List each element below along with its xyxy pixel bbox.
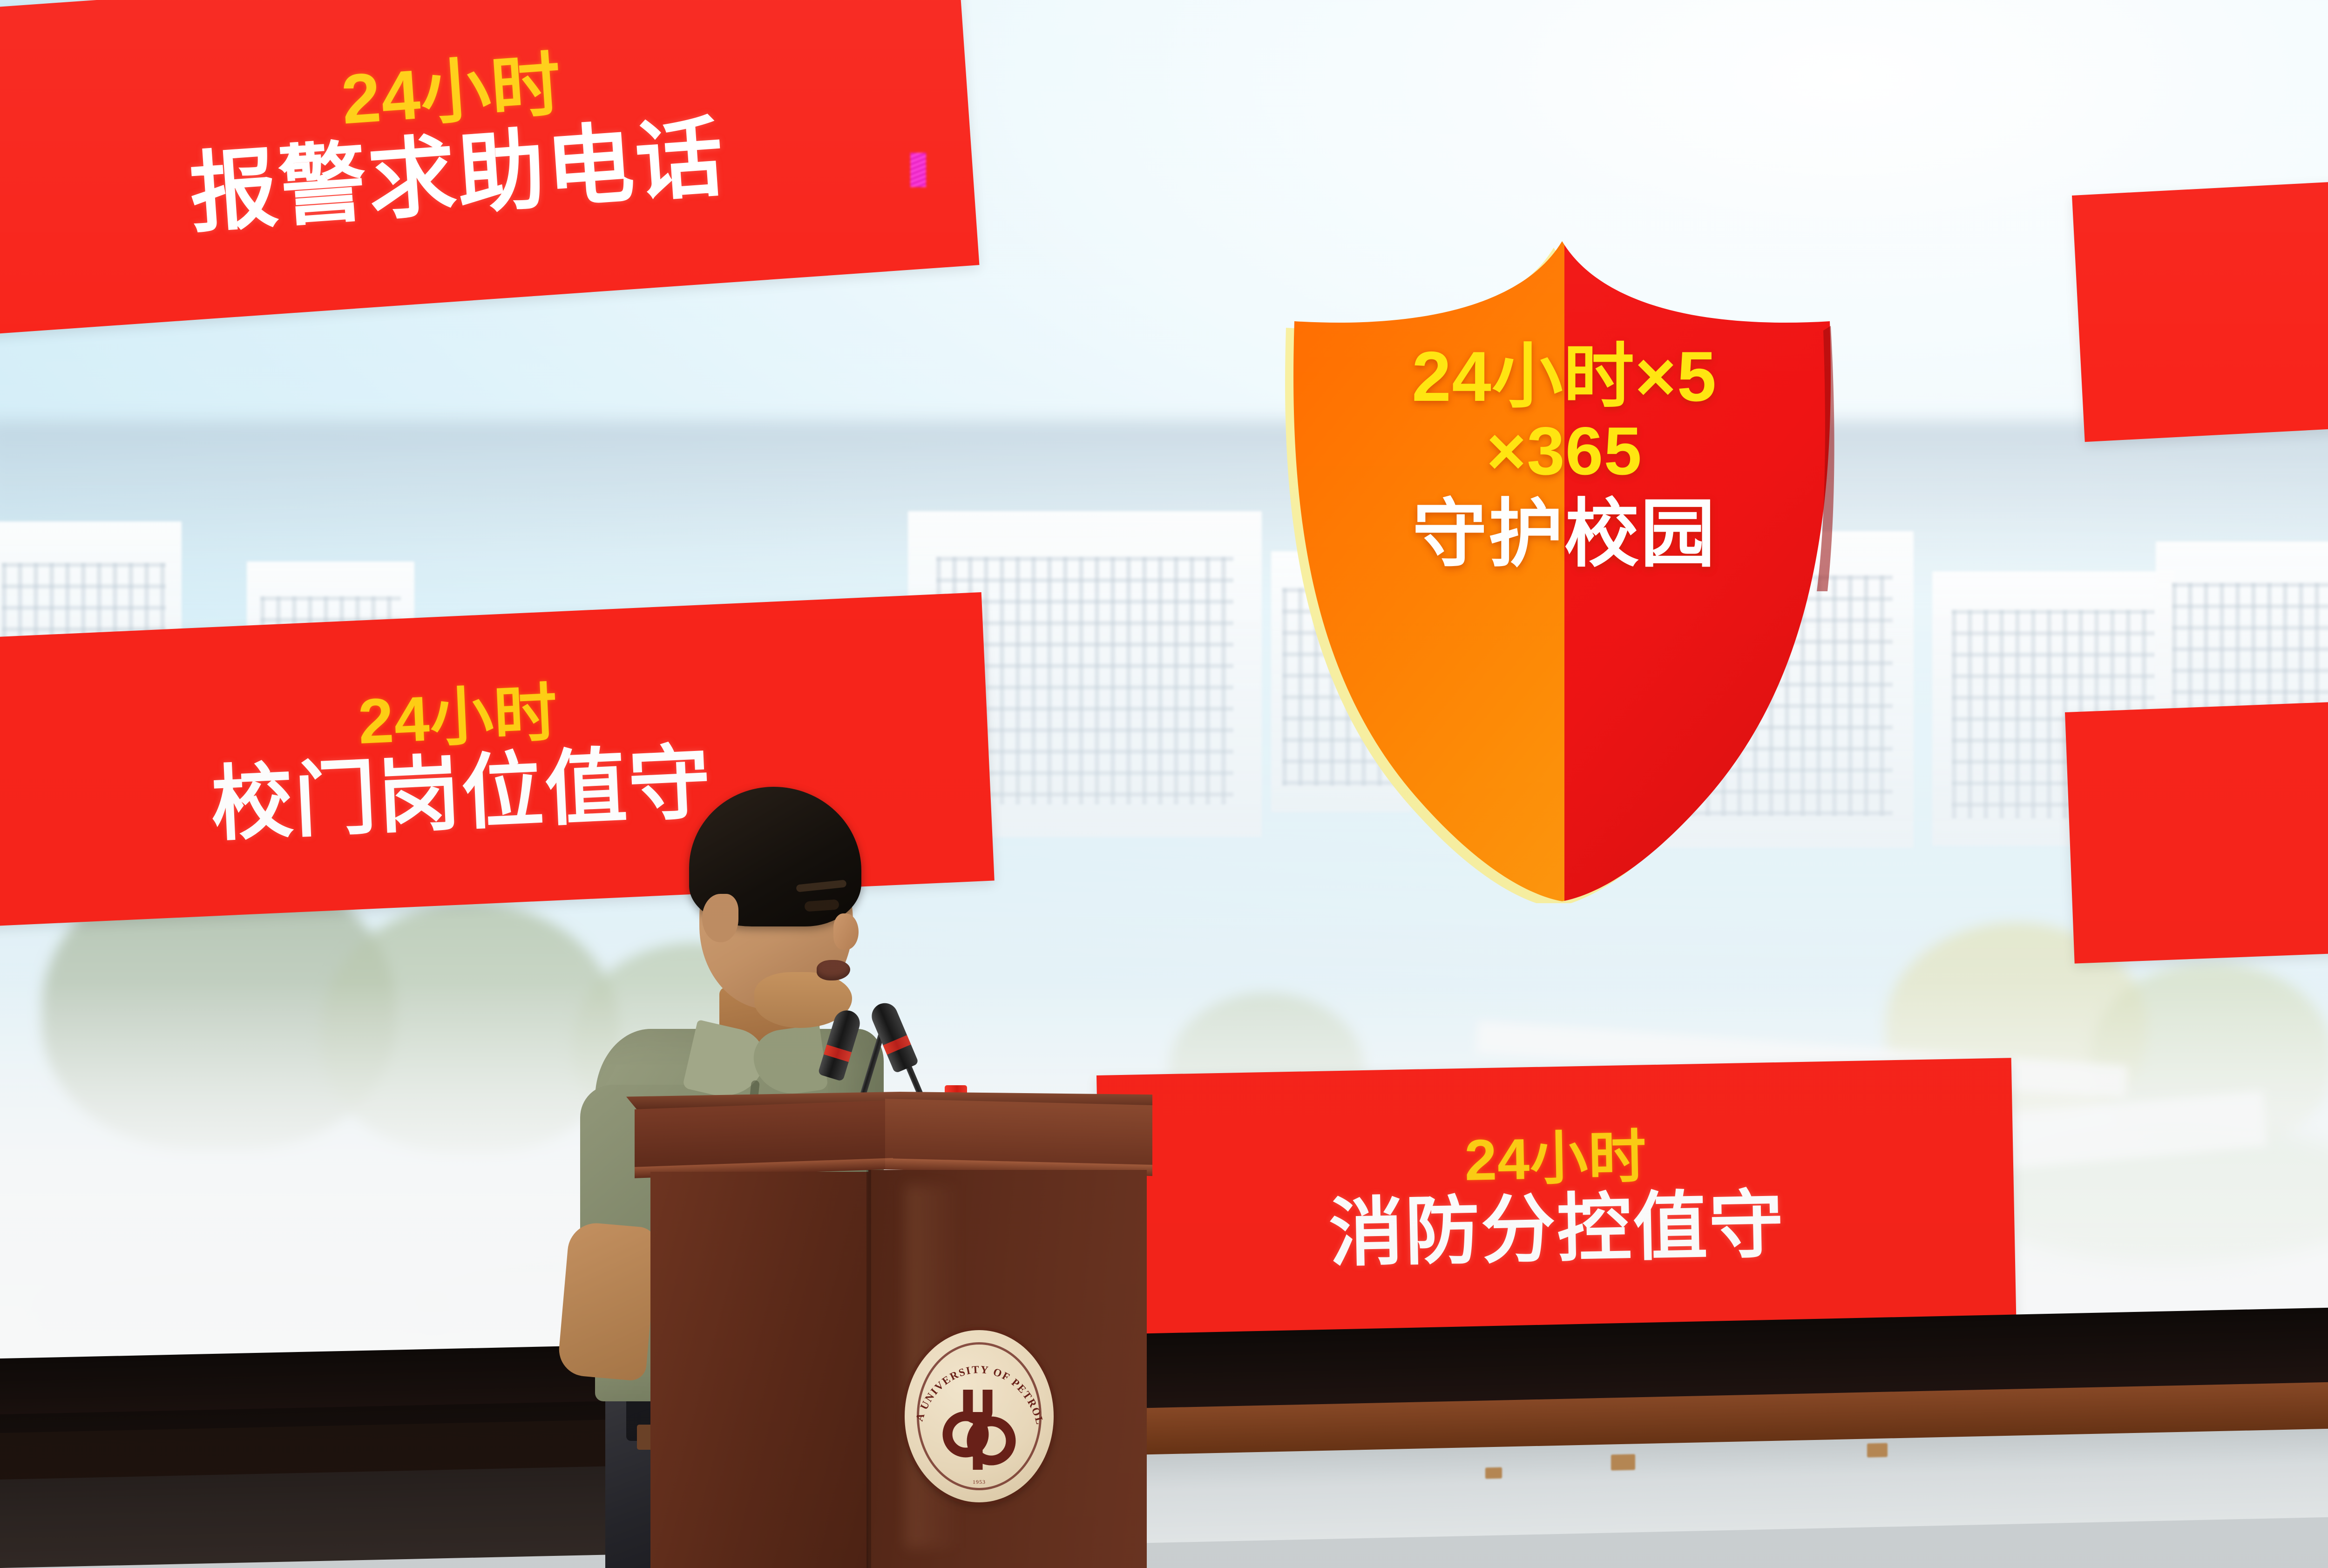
floor-speck — [1485, 1467, 1502, 1479]
podium-body-left — [650, 1172, 869, 1568]
banner-campus: 校园 — [2065, 695, 2328, 964]
shield-body — [1293, 241, 1831, 901]
floor-speck — [1611, 1454, 1635, 1470]
banner-fire-hours: 24小时 — [1464, 1128, 1647, 1190]
emblem-year: 1953 — [973, 1479, 986, 1485]
speaker-nose — [833, 913, 859, 950]
screenshot-root: 24小时×5 ×365 守护校园 24小时 报警求助电话 24小时 校门岗位值守… — [0, 0, 2328, 1568]
floor-speck — [1867, 1443, 1888, 1458]
emblem-artwork: CHINA UNIVERSITY OF PETROLEUM 1953 — [905, 1330, 1054, 1502]
banner-central: 中央 — [2072, 172, 2328, 442]
banner-fire-text: 消防分控值守 — [1328, 1187, 1786, 1271]
banner-fire: 24小时 消防分控值守 — [1096, 1058, 2016, 1338]
banner-gate-hours: 24小时 — [357, 681, 559, 754]
shield-graphic: 24小时×5 ×365 守护校园 — [1262, 237, 1867, 903]
shield-icon — [1262, 237, 1867, 903]
podium: CHINA UNIVERSITY OF PETROLEUM 1953 — [626, 1092, 1152, 1568]
banner-alarm-text: 报警求助电话 — [187, 113, 728, 239]
projector-pixel-artifact — [910, 153, 926, 187]
speaker-mouth — [817, 960, 850, 980]
emblem-monogram — [947, 1390, 1011, 1470]
university-emblem-icon: CHINA UNIVERSITY OF PETROLEUM 1953 — [905, 1330, 1054, 1502]
podium-corner-edge — [866, 1170, 871, 1568]
speaker-ear — [702, 894, 738, 942]
